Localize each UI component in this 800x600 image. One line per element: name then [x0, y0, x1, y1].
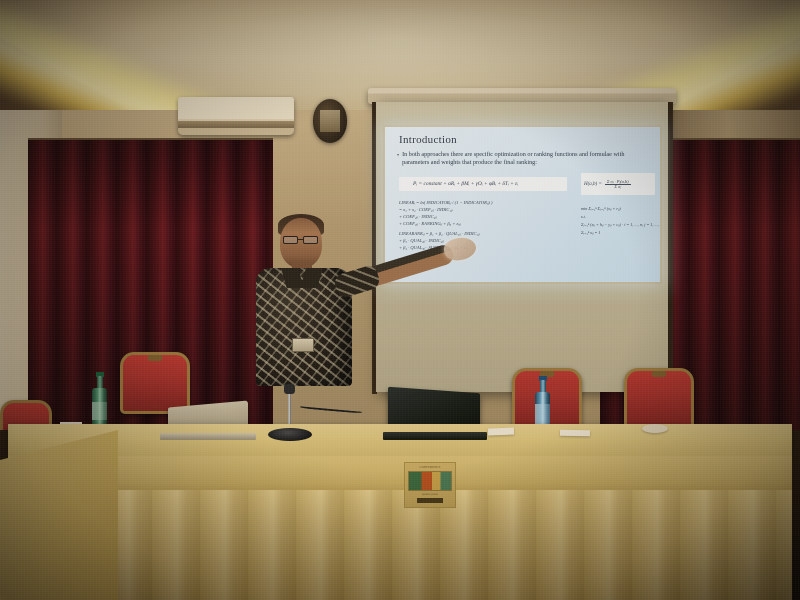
table-sign: CONFERENCE sponsor poster: [404, 462, 456, 508]
glasses-icon: [303, 236, 318, 244]
table-sign-subtitle: sponsor poster: [407, 493, 453, 496]
laptop-black-base: [383, 432, 487, 440]
chair: [624, 368, 694, 430]
conference-photo: Introduction • In both approaches there …: [0, 0, 800, 600]
presenter: [232, 210, 382, 410]
fraction-label: H(a,b) =: [584, 182, 602, 187]
air-conditioner-vent: [178, 121, 294, 128]
chair: [120, 352, 190, 414]
laptop-silver-base: [160, 433, 256, 440]
table-sign-title: CONFERENCE: [407, 465, 453, 469]
slide-formula-block-left: LINEARᵢ = ln( INDICATORᵢⱼ / (1 − INDICAT…: [399, 199, 569, 251]
wall-clock-icon: [313, 99, 347, 143]
name-badge: [292, 338, 314, 352]
table-top: [8, 424, 792, 458]
wall-clock-face: [320, 110, 340, 132]
bullet-dot-icon: •: [397, 151, 399, 167]
formula-line: Σᵢ₌₁ⁿ xᵢⱼ = 1: [581, 229, 657, 237]
slide-formula-fraction: H(a,b) = Σ σⱼ · Pⱼ(a,b) Σ σⱼ: [581, 173, 655, 195]
formula-line: LINEARANKᵢⱼ = β₁ + β₂ · QUAL₁ᵢⱼ · INDIC₁…: [399, 230, 569, 237]
slide-bullet-text: In both approaches there are specific op…: [402, 151, 640, 167]
fraction-denominator: Σ σⱼ: [612, 184, 623, 189]
slide-formula-main: Pᵢ = constant + αRᵢ + βMᵢ + γOᵢ + φBᵢ + …: [399, 177, 567, 191]
bottle-label: [535, 404, 550, 424]
formula-line: + COEF₂ᵢⱼ · INDIC₂ᵢⱼ: [399, 213, 569, 220]
air-conditioner: [178, 97, 294, 135]
paper: [560, 430, 590, 437]
slide-formula-block-right: min Σᵢ₌₁ⁿ Σⱼ₌₁ⁿ (xᵢⱼ + rᵢⱼ) s.t. Σⱼ₌₁ⁿ (…: [581, 205, 657, 237]
paper: [488, 428, 514, 436]
glasses-bridge: [298, 239, 303, 240]
chair-back: [120, 352, 190, 414]
formula-line: = x₁ + x₂ · COEF₁ᵢⱼ · INDIC₁ᵢⱼ: [399, 206, 569, 213]
fraction-body: Σ σⱼ · Pⱼ(a,b) Σ σⱼ: [605, 179, 631, 189]
bottle-label: [92, 402, 107, 420]
chair-back: [624, 368, 694, 430]
projector-screen-edge-right: [668, 102, 673, 394]
microphone-base: [268, 428, 312, 441]
glasses-icon: [283, 236, 298, 244]
table-front-band: [8, 456, 792, 492]
slide-bullet: • In both approaches there are specific …: [397, 151, 652, 167]
table-sign-bar: [417, 498, 443, 503]
formula-line: min Σᵢ₌₁ⁿ Σⱼ₌₁ⁿ (xᵢⱼ + rᵢⱼ): [581, 205, 657, 213]
table-left-drape: [0, 430, 120, 600]
table-skirt-shading: [8, 490, 792, 600]
formula-line: + β₃ · QUAL₂ᵢⱼ · INDIC₂ᵢⱼ: [399, 237, 569, 244]
formula-line: Σⱼ₌₁ⁿ (xᵢⱼ + hᵢⱼ − yᵢⱼ + cᵢⱼ) · i = 1, .…: [581, 221, 657, 229]
microphone-head: [284, 384, 295, 394]
table-sign-image: [408, 471, 452, 491]
chair-knob: [148, 355, 163, 361]
formula-line: + COEF₃ᵢⱼ · RANKINGᵢⱼ + β₀ + εₑᵢⱼ: [399, 220, 569, 227]
formula-line: LINEARᵢ = ln( INDICATORᵢⱼ / (1 − INDICAT…: [399, 199, 569, 206]
paper: [642, 424, 668, 433]
chair-knob: [652, 371, 667, 377]
formula-line: s.t.: [581, 213, 657, 221]
slide-title: Introduction: [399, 134, 652, 146]
